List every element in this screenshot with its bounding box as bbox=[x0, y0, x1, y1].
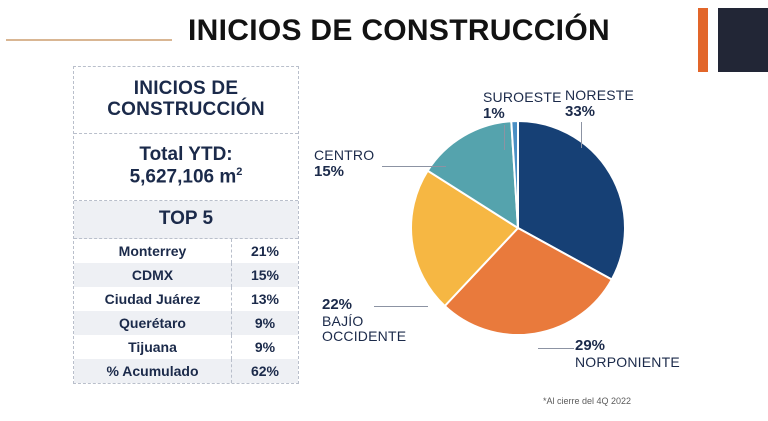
table-row-value: 62% bbox=[232, 359, 298, 383]
total-ytd-block: Total YTD: 5,627,106 m2 bbox=[74, 134, 298, 201]
table-row-value: 15% bbox=[232, 263, 298, 287]
top5-header: TOP 5 bbox=[74, 201, 298, 239]
leader-line-noreste bbox=[581, 122, 582, 148]
table-row: Monterrey 21% bbox=[74, 239, 298, 263]
table-row-label: Querétaro bbox=[74, 311, 232, 335]
table-row-label: % Acumulado bbox=[74, 359, 232, 383]
pie-label-norponiente-value: 29% bbox=[575, 338, 680, 355]
table-row: CDMX 15% bbox=[74, 263, 298, 287]
pie-label-noreste: NORESTE 33% bbox=[565, 88, 634, 120]
title-accent-rule bbox=[6, 39, 172, 41]
table-row: Querétaro 9% bbox=[74, 311, 298, 335]
info-table: INICIOS DE CONSTRUCCIÓN Total YTD: 5,627… bbox=[73, 66, 299, 384]
table-row-label: Tijuana bbox=[74, 335, 232, 359]
pie-label-norponiente: 29% NORPONIENTE bbox=[575, 338, 680, 370]
chart-footnote: *Al cierre del 4Q 2022 bbox=[543, 396, 631, 406]
total-ytd-label: Total YTD: bbox=[80, 144, 292, 166]
pie-label-bajio-name-line2: OCCIDENTE bbox=[322, 329, 406, 345]
total-ytd-unit-exponent: 2 bbox=[236, 166, 242, 178]
pie-chart: NORESTE 33% SUROESTE 1% CENTRO 15% 22% B… bbox=[300, 70, 720, 410]
pie-label-noreste-value: 33% bbox=[565, 104, 634, 121]
info-table-heading-line1: INICIOS DE bbox=[80, 78, 292, 99]
table-row-value: 9% bbox=[232, 311, 298, 335]
corner-accent-bar bbox=[698, 8, 708, 72]
table-row: Ciudad Juárez 13% bbox=[74, 287, 298, 311]
leader-line-suroeste bbox=[504, 125, 505, 150]
page-title: INICIOS DE CONSTRUCCIÓN bbox=[188, 14, 628, 47]
table-row-value: 9% bbox=[232, 335, 298, 359]
pie-label-suroeste-value: 1% bbox=[483, 106, 562, 123]
pie-label-bajio-value: 22% bbox=[322, 297, 406, 314]
leader-line-centro bbox=[382, 166, 446, 167]
pie-label-noreste-name: NORESTE bbox=[565, 88, 634, 104]
pie-label-centro-name: CENTRO bbox=[314, 148, 374, 164]
pie-svg bbox=[410, 120, 626, 336]
table-row-label: CDMX bbox=[74, 263, 232, 287]
total-ytd-value: 5,627,106 m bbox=[130, 166, 237, 187]
info-table-heading: INICIOS DE CONSTRUCCIÓN bbox=[74, 67, 298, 134]
pie-label-suroeste-name: SUROESTE bbox=[483, 90, 562, 106]
table-row: Tijuana 9% bbox=[74, 335, 298, 359]
table-row-value: 13% bbox=[232, 287, 298, 311]
table-row-label: Ciudad Juárez bbox=[74, 287, 232, 311]
pie-label-centro: CENTRO 15% bbox=[314, 148, 374, 180]
pie-label-norponiente-name: NORPONIENTE bbox=[575, 355, 680, 371]
pie-label-bajio-name-line1: BAJÍO bbox=[322, 314, 406, 330]
pie-graphic bbox=[410, 120, 626, 336]
total-ytd-value-line: 5,627,106 m2 bbox=[80, 166, 292, 189]
table-row: % Acumulado 62% bbox=[74, 359, 298, 383]
leader-line-norponiente bbox=[538, 348, 574, 349]
pie-label-bajio-occidente: 22% BAJÍO OCCIDENTE bbox=[322, 297, 406, 345]
table-row-label: Monterrey bbox=[74, 239, 232, 263]
info-table-heading-line2: CONSTRUCCIÓN bbox=[80, 99, 292, 120]
table-row-value: 21% bbox=[232, 239, 298, 263]
corner-dark-block bbox=[718, 8, 768, 72]
pie-label-centro-value: 15% bbox=[314, 164, 374, 181]
pie-label-suroeste: SUROESTE 1% bbox=[483, 90, 562, 122]
